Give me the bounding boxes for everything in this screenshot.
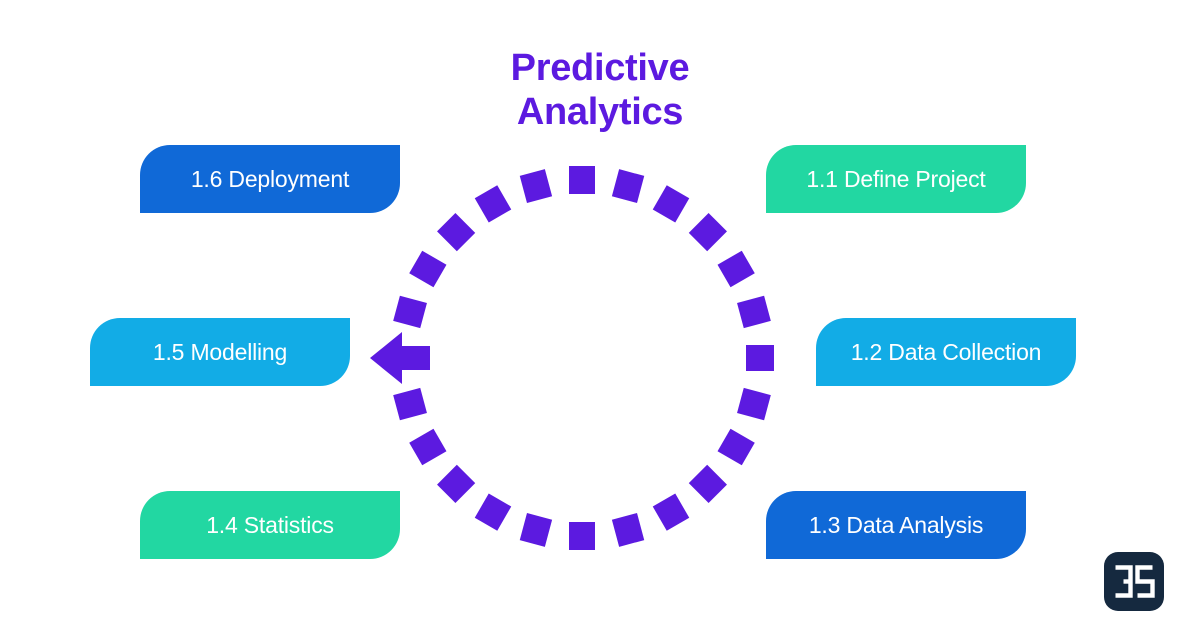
ring-dash	[569, 522, 595, 550]
ring-dash	[612, 513, 644, 547]
cycle-arrowhead	[370, 332, 430, 384]
ring-dash	[689, 213, 727, 251]
ring-dash	[437, 213, 475, 251]
dashed-ring	[393, 166, 774, 550]
stage-box-1-3[interactable]: 1.3 Data Analysis	[766, 491, 1026, 559]
page-title-line-1: Predictive	[0, 46, 1200, 90]
ring-dash	[746, 345, 774, 371]
ring-dash	[393, 296, 427, 328]
stage-box-1-3-label: 1.3 Data Analysis	[809, 512, 983, 539]
page-title-line-2: Analytics	[0, 90, 1200, 134]
ring-dash	[520, 169, 552, 203]
ring-dash	[393, 388, 427, 420]
ring-dash	[612, 169, 644, 203]
stage-box-1-2[interactable]: 1.2 Data Collection	[816, 318, 1076, 386]
logo-mark-icon	[1104, 552, 1164, 611]
page-title: Predictive Analytics	[0, 46, 1200, 134]
brand-logo[interactable]	[1104, 552, 1164, 611]
ring-dash	[737, 296, 771, 328]
ring-dash	[475, 494, 512, 531]
stage-box-1-4[interactable]: 1.4 Statistics	[140, 491, 400, 559]
cycle-svg	[370, 158, 795, 563]
cycle-diagram	[370, 158, 795, 563]
ring-dash	[409, 251, 446, 288]
ring-dash	[653, 494, 690, 531]
ring-dash	[475, 185, 512, 222]
cycle-arrow-icon	[370, 332, 430, 384]
ring-dash	[737, 388, 771, 420]
ring-dash	[718, 429, 755, 466]
ring-dash	[520, 513, 552, 547]
stage-box-1-6-label: 1.6 Deployment	[191, 166, 349, 193]
stage-box-1-1-label: 1.1 Define Project	[806, 166, 985, 193]
stage-box-1-4-label: 1.4 Statistics	[206, 512, 334, 539]
ring-dash	[653, 185, 690, 222]
ring-dash	[718, 251, 755, 288]
ring-dash	[409, 429, 446, 466]
stage-box-1-1[interactable]: 1.1 Define Project	[766, 145, 1026, 213]
diagram-canvas: Predictive Analytics 1.6 Deployment 1.5 …	[0, 0, 1200, 630]
stage-box-1-5[interactable]: 1.5 Modelling	[90, 318, 350, 386]
ring-dash	[437, 465, 475, 503]
ring-dash	[569, 166, 595, 194]
stage-box-1-2-label: 1.2 Data Collection	[851, 339, 1042, 366]
ring-dash	[689, 465, 727, 503]
stage-box-1-5-label: 1.5 Modelling	[153, 339, 287, 366]
stage-box-1-6[interactable]: 1.6 Deployment	[140, 145, 400, 213]
